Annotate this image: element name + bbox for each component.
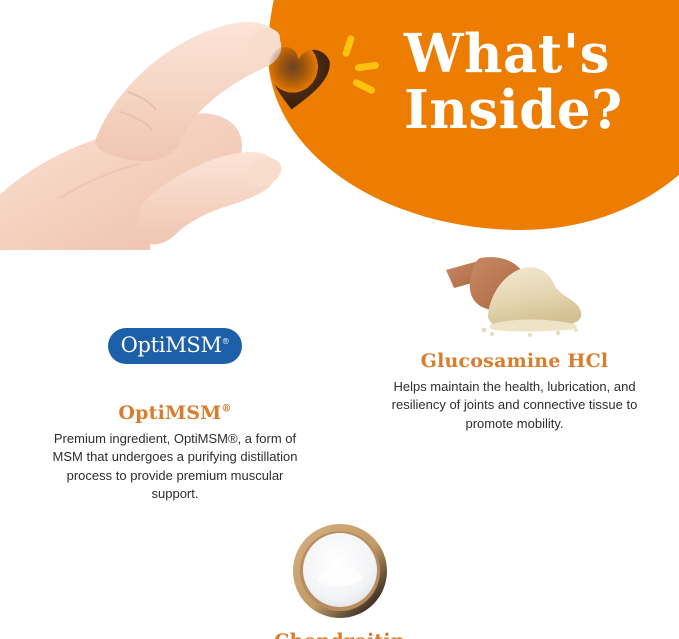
glucosamine-visual xyxy=(350,248,679,340)
hero-section: What's Inside? xyxy=(0,0,679,240)
page-title: What's Inside? xyxy=(404,26,664,138)
page-title-line-2: Inside? xyxy=(404,82,664,138)
powder-grain xyxy=(490,332,494,336)
ingredient-card-optimsm: OptiMSM® OptiMSM® Premium ingredient, Op… xyxy=(0,248,350,504)
ingredient-title-chondroitin: Chondroitin xyxy=(190,630,490,639)
optimsm-brand-logo: OptiMSM® xyxy=(108,328,242,364)
heart-shaped-treat xyxy=(263,44,332,114)
ingredient-title-glucosamine: Glucosamine HCl xyxy=(350,350,679,372)
powder-grain xyxy=(555,331,559,335)
hand-svg xyxy=(0,0,340,250)
chondroitin-visual xyxy=(190,522,490,620)
ingredients-section: OptiMSM® OptiMSM® Premium ingredient, Op… xyxy=(0,248,679,639)
ingredient-description-optimsm: Premium ingredient, OptiMSM®, a form of … xyxy=(50,430,300,504)
ingredient-card-glucosamine: Glucosamine HCl Helps maintain the healt… xyxy=(350,248,679,433)
powder-grain xyxy=(528,333,532,337)
ingredient-title-optimsm: OptiMSM® xyxy=(0,402,350,424)
ingredient-card-chondroitin: Chondroitin A compound that supports nor… xyxy=(190,504,490,639)
infographic-page: What's Inside? OptiMSM® OptiMSM® Premium… xyxy=(0,0,679,639)
registered-mark: ® xyxy=(221,404,231,415)
hand-holding-treat-illustration xyxy=(0,0,340,250)
scoop-of-powder-image xyxy=(430,248,600,340)
registered-mark: ® xyxy=(222,337,230,346)
powder-grain xyxy=(574,328,578,332)
ingredients-top-row: OptiMSM® OptiMSM® Premium ingredient, Op… xyxy=(0,248,679,504)
bowl-of-white-powder-image xyxy=(291,522,389,620)
ingredient-description-glucosamine: Helps maintain the health, lubrication, … xyxy=(391,378,639,433)
powder-grain xyxy=(481,328,486,333)
optimsm-visual: OptiMSM® xyxy=(0,300,350,392)
optimsm-logo-text: OptiMSM® xyxy=(121,335,230,356)
page-title-line-1: What's xyxy=(404,23,610,85)
